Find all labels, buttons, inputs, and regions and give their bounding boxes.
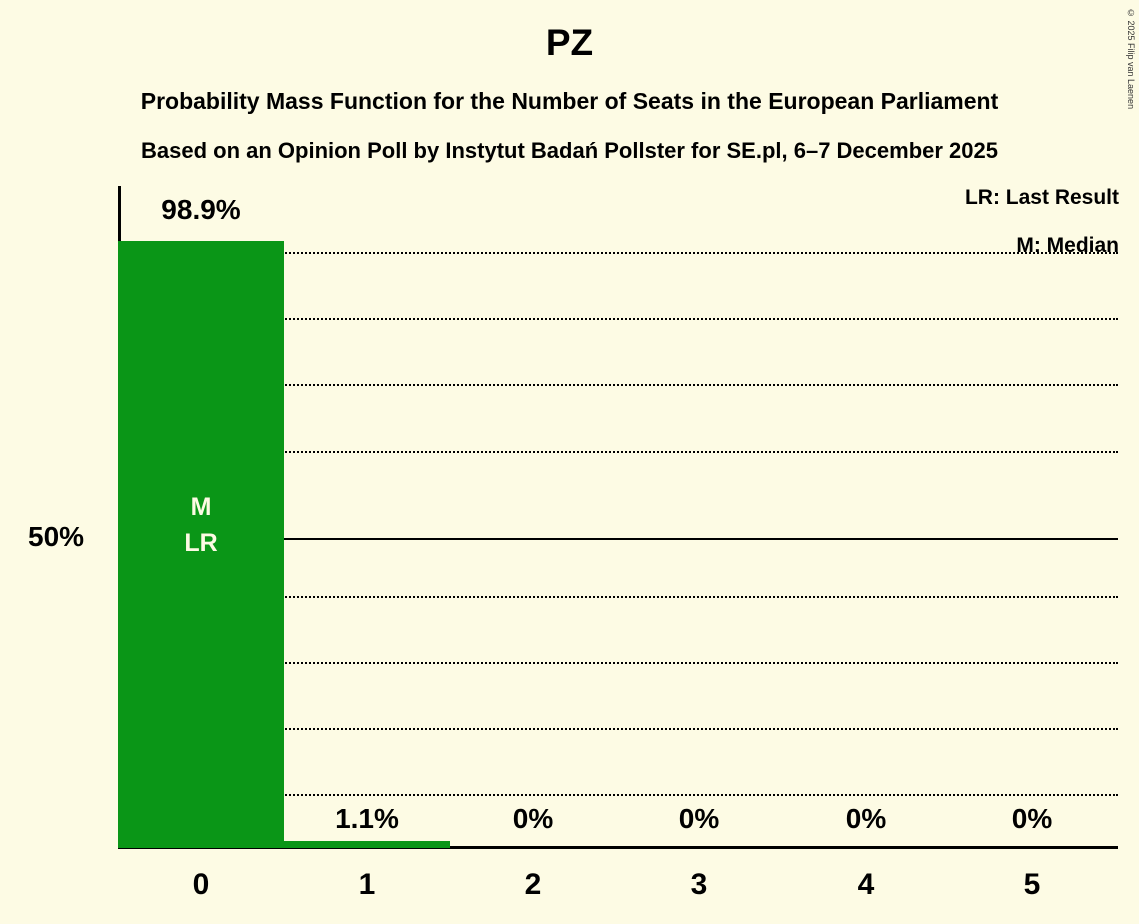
bar-0-annotations: M LR [118, 489, 284, 562]
bar-2-value: 0% [450, 803, 616, 835]
y-axis-tick-50: 50% [28, 521, 84, 553]
page-title: PZ [0, 22, 1139, 64]
bar-3-value: 0% [616, 803, 782, 835]
x-tick-3: 3 [616, 868, 782, 902]
median-marker: M [118, 489, 284, 525]
bar-4-value: 0% [783, 803, 949, 835]
bar-0-value: 98.9% [118, 194, 284, 226]
last-result-marker: LR [118, 525, 284, 561]
x-tick-0: 0 [118, 868, 284, 902]
x-tick-5: 5 [949, 868, 1115, 902]
x-tick-4: 4 [783, 868, 949, 902]
plot-area: M LR 98.9% 1.1% 0% 0% 0% 0% [118, 186, 1118, 848]
x-tick-2: 2 [450, 868, 616, 902]
bar-1-value: 1.1% [284, 803, 450, 835]
bar-1[interactable] [284, 841, 450, 848]
chart-source: Based on an Opinion Poll by Instytut Bad… [0, 138, 1139, 164]
chart-container: © 2025 Filip van Laenen PZ Probability M… [0, 0, 1139, 924]
x-tick-1: 1 [284, 868, 450, 902]
chart-subtitle: Probability Mass Function for the Number… [0, 88, 1139, 115]
bar-5-value: 0% [949, 803, 1115, 835]
